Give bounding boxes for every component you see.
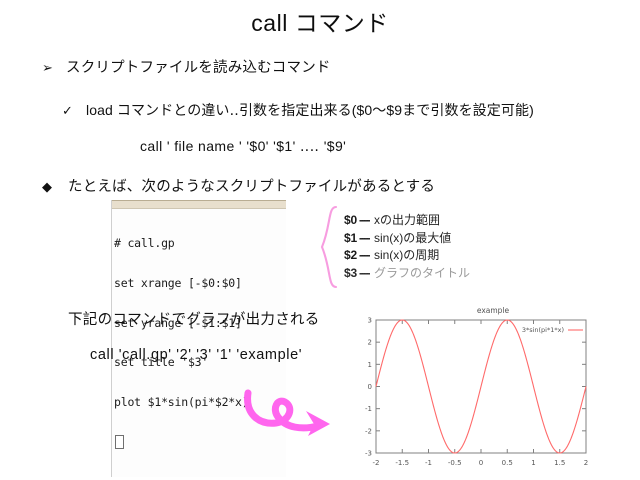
parameter-legend: $0----xの出力範囲 $1----sin(x)の最大値 $2----sin(… <box>318 205 470 289</box>
terminal-cursor-icon <box>115 435 124 449</box>
chart-x-tick-label: 1 <box>531 459 535 467</box>
chart-y-tick-label: 0 <box>368 383 372 391</box>
curly-brace-icon <box>318 205 340 289</box>
legend-description: グラフのタイトル <box>374 265 470 283</box>
chart-x-tick-label: -1.5 <box>395 459 409 467</box>
chart-x-tick-label: -1 <box>425 459 432 467</box>
diamond-bullet-icon: ◆ <box>42 179 68 195</box>
pink-curved-arrow-icon <box>232 385 360 457</box>
result-description-label: 下記のコマンドでグラフが出力される <box>68 308 320 329</box>
legend-dash: ---- <box>359 265 369 283</box>
legend-description: xの出力範囲 <box>374 212 440 230</box>
chart-title: example <box>477 306 510 315</box>
chart-x-tick-label: 1.5 <box>554 459 565 467</box>
legend-row: $0----xの出力範囲 <box>344 212 470 230</box>
parameter-legend-rows: $0----xの出力範囲 $1----sin(x)の最大値 $2----sin(… <box>344 212 470 282</box>
chart-x-tick-label: 0.5 <box>502 459 513 467</box>
chart-x-tick-label: -2 <box>373 459 380 467</box>
chart-legend: 3*sin(pi*1*x) <box>522 326 583 334</box>
code-line: # call.gp <box>114 237 286 250</box>
chart-x-tick-label: -0.5 <box>448 459 462 467</box>
code-block-titlebar <box>112 200 286 209</box>
check-bullet-icon: ✓ <box>62 103 86 119</box>
gnuplot-output-chart: example -2-1.5-1-0.500.511.52 -3-2-10123… <box>352 298 634 476</box>
bullet-level3-label: たとえば、次のようなスクリプトファイルがあるとする <box>68 175 435 196</box>
legend-row: $3----グラフのタイトル <box>344 265 470 283</box>
chart-x-tick-label: 2 <box>584 459 588 467</box>
legend-dash: ---- <box>359 247 369 265</box>
page-title: call コマンド <box>0 8 640 38</box>
legend-key: $1 <box>344 230 357 248</box>
chart-series-line <box>376 320 586 453</box>
bullet-item-level3: ◆ たとえば、次のようなスクリプトファイルがあるとする <box>42 175 435 196</box>
chart-y-tick-label: -2 <box>365 427 372 435</box>
chart-x-axis-ticks: -2-1.5-1-0.500.511.52 <box>373 320 589 467</box>
legend-description: sin(x)の最大値 <box>374 230 451 248</box>
call-syntax-line: call ' file name ' '$0' '$1' ‥‥ '$9' <box>140 138 346 155</box>
chart-y-axis-ticks: -3-2-10123 <box>365 317 586 458</box>
legend-key: $0 <box>344 212 357 230</box>
legend-dash: ---- <box>359 212 369 230</box>
chart-y-tick-label: 3 <box>368 317 372 325</box>
legend-row: $2----sin(x)の周期 <box>344 247 470 265</box>
legend-row: $1----sin(x)の最大値 <box>344 230 470 248</box>
bullet-item-level1: ➢ スクリプトファイルを読み込むコマンド <box>42 56 331 77</box>
legend-key: $3 <box>344 265 357 283</box>
chart-legend-label: 3*sin(pi*1*x) <box>522 326 564 334</box>
legend-key: $2 <box>344 247 357 265</box>
legend-dash: ---- <box>359 230 369 248</box>
chart-x-tick-label: 0 <box>479 459 483 467</box>
call-example-command: call 'call.gp' '2' '3' '1' 'example' <box>90 347 302 363</box>
chart-y-tick-label: -1 <box>365 405 372 413</box>
code-line: set xrange [-$0:$0] <box>114 277 286 290</box>
bullet-level2-label: load コマンドとの違い‥引数を指定出来る($0〜$9まで引数を設定可能) <box>86 100 534 120</box>
legend-description: sin(x)の周期 <box>374 247 439 265</box>
bullet-level1-label: スクリプトファイルを読み込むコマンド <box>66 56 331 77</box>
chart-y-tick-label: 1 <box>368 361 372 369</box>
chart-y-tick-label: 2 <box>368 339 372 347</box>
arrowhead-bullet-icon: ➢ <box>42 60 66 76</box>
bullet-item-level2: ✓ load コマンドとの違い‥引数を指定出来る($0〜$9まで引数を設定可能) <box>62 100 534 120</box>
chart-y-tick-label: -3 <box>365 450 372 458</box>
